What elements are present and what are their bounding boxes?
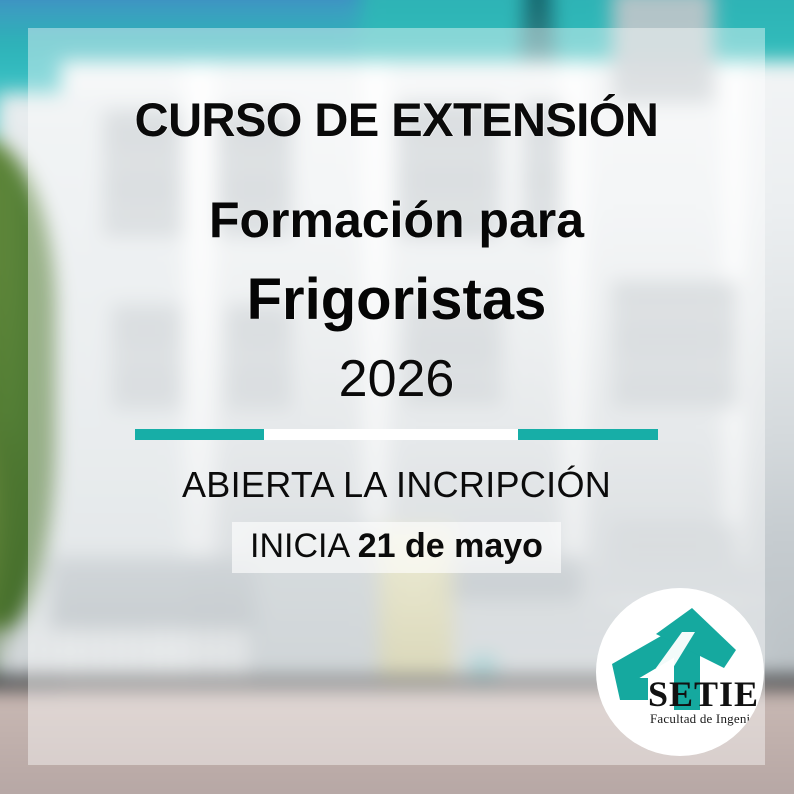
course-title-line-2: Frigoristas [247,271,547,329]
course-year: 2026 [339,353,455,405]
start-date-chip: INICIA 21 de mayo [232,522,561,573]
divider-segment-right [518,429,658,440]
decorative-divider [135,429,658,440]
enrollment-status: ABIERTA LA INCRIPCIÓN [182,464,611,506]
setie-tagline: Facultad de Ingeniería [650,712,764,725]
start-date-prefix: INICIA [250,527,358,565]
promotional-poster: CURSO DE EXTENSIÓN Formación para Frigor… [0,0,794,794]
setie-wordmark: SETIE [648,676,759,712]
divider-segment-left [135,429,264,440]
setie-logo-badge: SETIE Facultad de Ingeniería [596,588,764,756]
start-date-value: 21 de mayo [358,527,543,565]
course-title-line-1: Formación para [209,195,584,245]
divider-segment-middle [264,429,518,440]
setie-pickaxe-icon [596,588,764,756]
poster-kicker: CURSO DE EXTENSIÓN [135,96,659,143]
